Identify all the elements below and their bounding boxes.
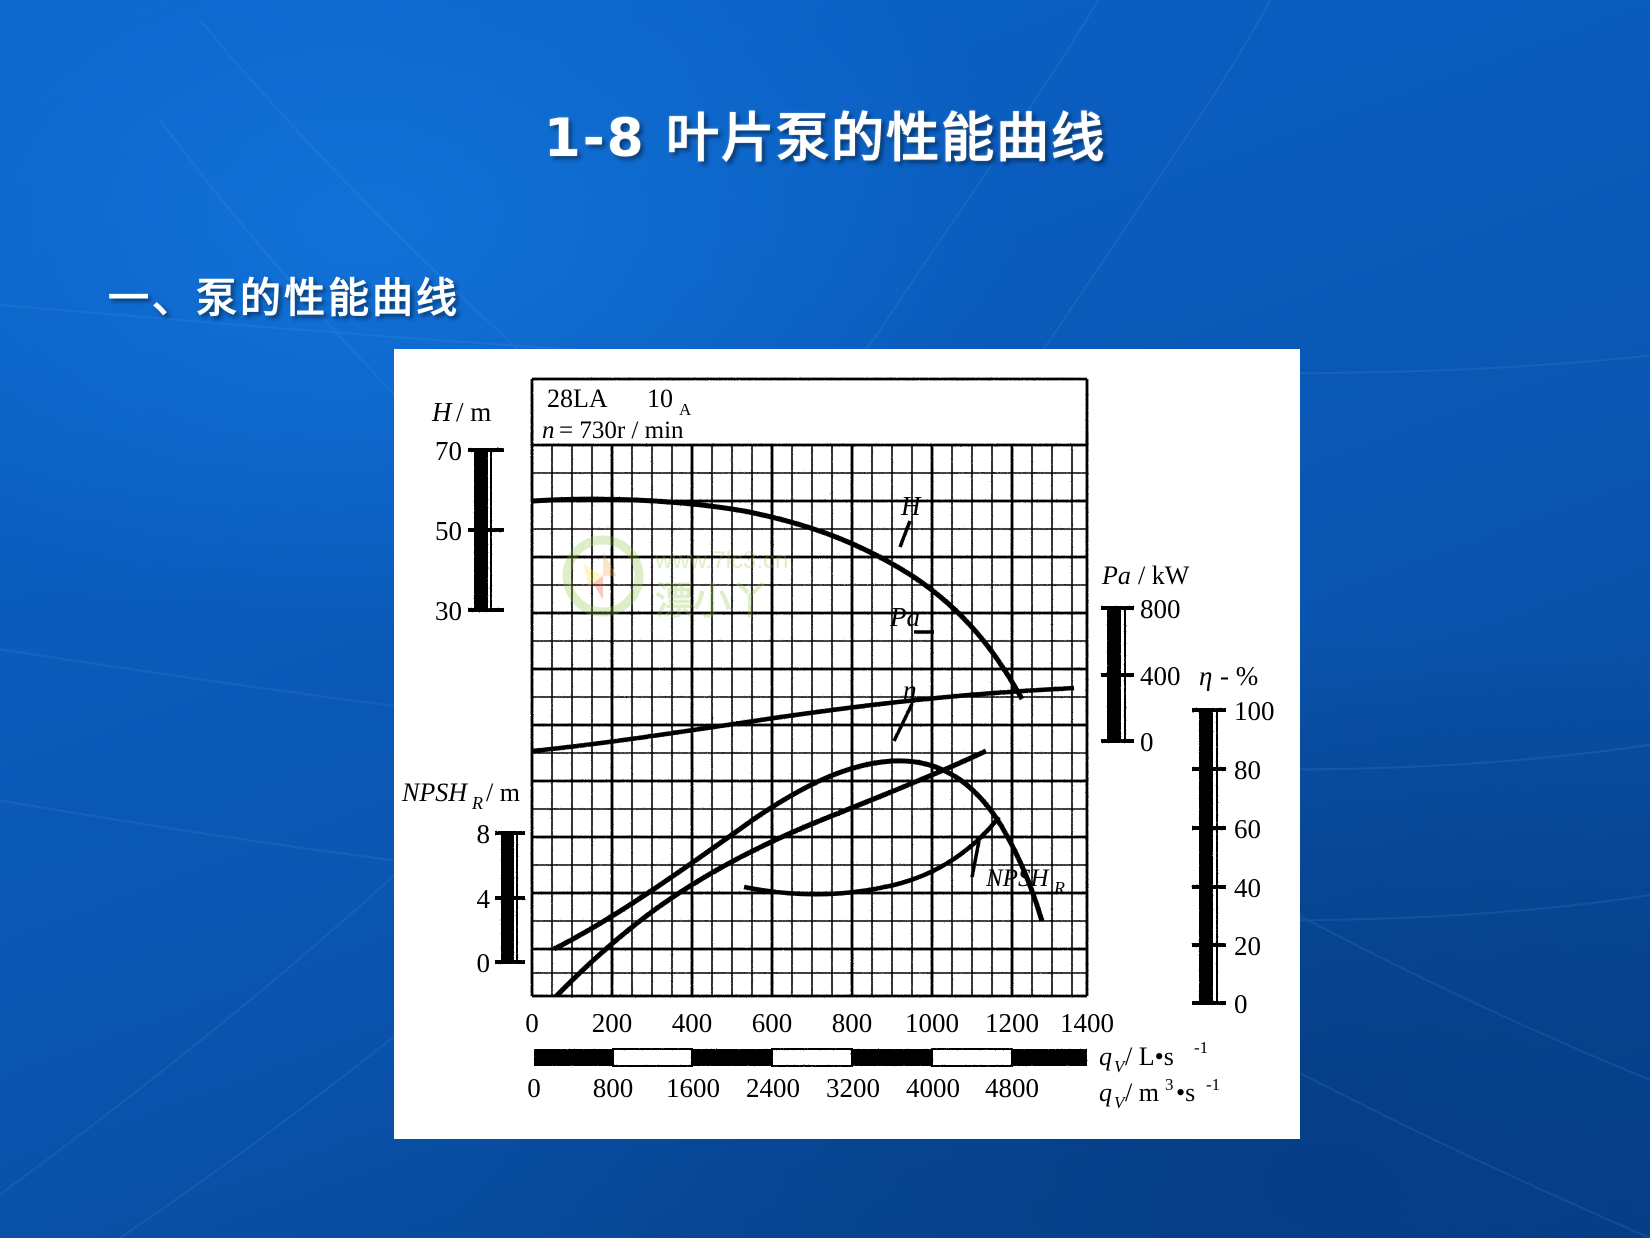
axis-eta-tick-60: 60 [1234, 814, 1261, 844]
slide-canvas: 1-8 叶片泵的性能曲线 一、泵的性能曲线 [0, 0, 1650, 1238]
annotation-H: H [900, 491, 922, 521]
x-tick-1200: 1200 [985, 1008, 1039, 1038]
chart-title: 28LA [547, 384, 608, 413]
x-axis-secondary-label-unit2: •s [1176, 1078, 1195, 1107]
axis-eta-tick-0: 0 [1234, 989, 1248, 1019]
x-tick-800: 800 [832, 1008, 873, 1038]
axis-Pa-tick-0: 0 [1140, 727, 1154, 757]
x2-tick-4000: 4000 [906, 1073, 960, 1103]
x-axis-secondary-label-exp: -1 [1206, 1075, 1220, 1094]
axis-eta-tick-40: 40 [1234, 873, 1261, 903]
axis-H-label-unit: / m [456, 397, 491, 427]
axis-Pa-label-var: Pa [1101, 561, 1131, 590]
section-heading: 一、泵的性能曲线 [108, 264, 460, 324]
pump-performance-chart: 28LA 10 A n = 730r / min H / m [394, 349, 1300, 1139]
axis-eta-label-unit: - % [1220, 661, 1258, 691]
x-axis-primary-label-unit: / L•s [1125, 1042, 1174, 1071]
chart-subtitle: = 730r / min [559, 417, 684, 444]
axis-NPSHR-tick-0: 0 [477, 948, 491, 978]
chart-subtitle-n: n [542, 417, 555, 444]
x-axis-secondary-label-exp3: 3 [1165, 1075, 1174, 1094]
annotation-Pa: Pa [889, 602, 920, 632]
axis-Pa-tick-800: 800 [1140, 594, 1181, 624]
axis-NPSHR-label-unit: / m [486, 778, 520, 807]
chart-title-model: 10 [647, 384, 673, 413]
x-axis-secondary-label-unit: / m [1125, 1078, 1159, 1107]
performance-curve-figure: 28LA 10 A n = 730r / min H / m [394, 349, 1300, 1139]
axis-eta-tick-100: 100 [1234, 696, 1275, 726]
axis-eta-label-var: η [1199, 661, 1212, 691]
axis-H-tick-70: 70 [435, 436, 462, 466]
x-tick-600: 600 [752, 1008, 793, 1038]
x2-tick-0: 0 [527, 1073, 541, 1103]
x2-tick-3200: 3200 [826, 1073, 880, 1103]
x-axis-primary-label-var: q [1099, 1042, 1112, 1071]
axis-NPSHR-tick-8: 8 [477, 819, 491, 849]
axis-NPSHR-label-var: NPSH [401, 778, 468, 807]
x2-tick-1600: 1600 [666, 1073, 720, 1103]
axis-NPSHR-label-sub: R [471, 793, 483, 813]
annotation-eta: η [903, 675, 916, 705]
axis-eta-tick-20: 20 [1234, 931, 1261, 961]
axis-eta-tick-80: 80 [1234, 755, 1261, 785]
x2-tick-2400: 2400 [746, 1073, 800, 1103]
x-tick-200: 200 [592, 1008, 633, 1038]
axis-NPSHR-tick-4: 4 [477, 884, 491, 914]
annotation-NPSHR-sub: R [1053, 878, 1065, 898]
axis-Pa-label-unit: / kW [1138, 561, 1190, 590]
axis-H-tick-50: 50 [435, 516, 462, 546]
figure-canvas: 28LA 10 A n = 730r / min H / m [394, 349, 1300, 1139]
axis-H-tick-30: 30 [435, 596, 462, 626]
page-title: 1-8 叶片泵的性能曲线 [0, 96, 1650, 172]
x-tick-0: 0 [525, 1008, 539, 1038]
x-axis-secondary-label-var: q [1099, 1078, 1112, 1107]
axis-H-label-var: H [431, 397, 453, 427]
x-tick-1000: 1000 [905, 1008, 959, 1038]
x-tick-1400: 1400 [1060, 1008, 1114, 1038]
x-tick-400: 400 [672, 1008, 713, 1038]
annotation-NPSHR: NPSH [985, 865, 1050, 892]
axis-Pa-tick-400: 400 [1140, 661, 1181, 691]
x-axis-primary-label-exp: -1 [1194, 1038, 1208, 1057]
x2-tick-800: 800 [593, 1073, 634, 1103]
x2-tick-4800: 4800 [985, 1073, 1039, 1103]
